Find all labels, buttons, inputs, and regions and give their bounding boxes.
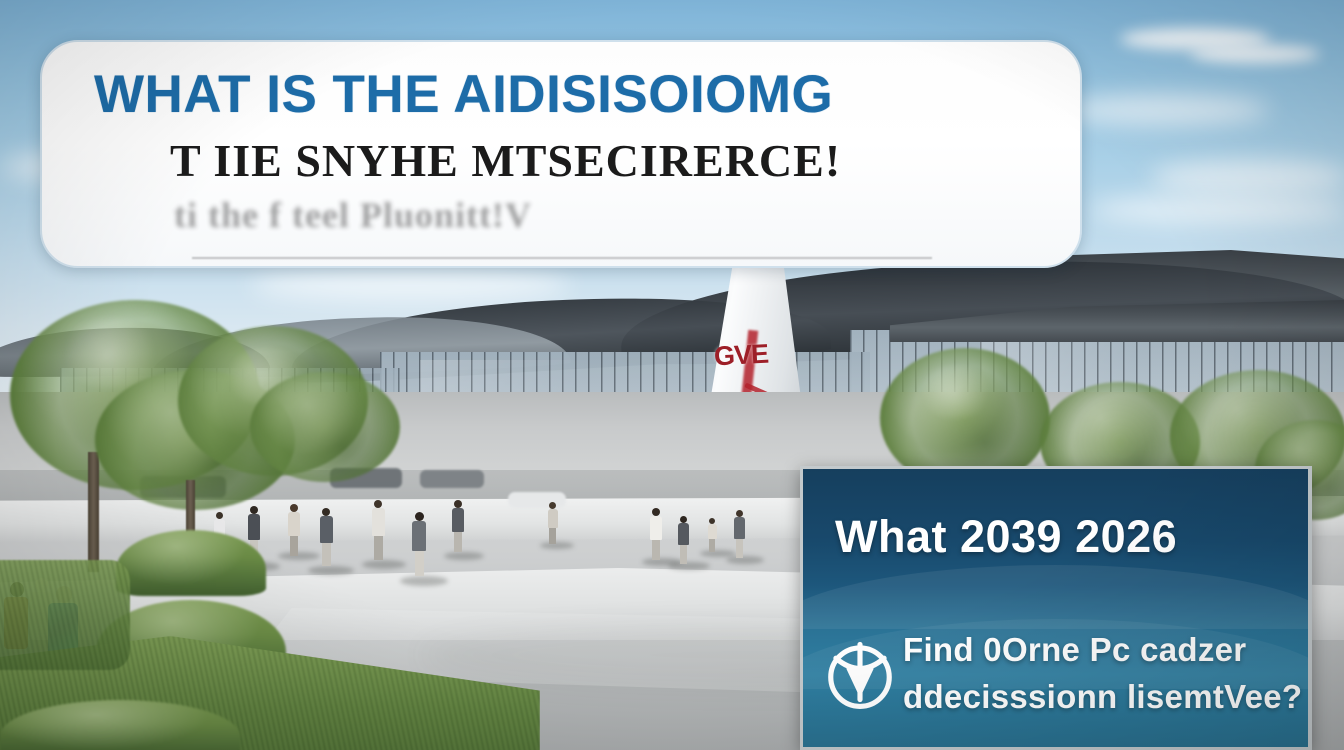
headline-underline xyxy=(192,257,932,259)
pedestrian xyxy=(320,508,333,566)
promo-title: What 2039 2026 xyxy=(835,511,1177,563)
pedestrian-legs xyxy=(652,540,660,560)
cloud xyxy=(1190,45,1320,63)
pedestrian-legs xyxy=(322,543,331,566)
person-shadow xyxy=(308,566,354,575)
promo-subtitle-line-2: ddecisssionn lisemtVee? xyxy=(903,674,1303,721)
pedestrian-torso xyxy=(678,523,689,545)
aircraft-tail-code: GVE xyxy=(713,339,769,373)
parked-vehicle xyxy=(420,470,484,488)
pedestrian-child xyxy=(708,518,717,552)
promo-subtitle: Find 0Orne Pc cadzer ddecisssionn lisemt… xyxy=(903,627,1303,721)
pedestrian-torso xyxy=(452,508,464,532)
promo-panel[interactable]: What 2039 2026 Find 0Orne Pc cadzer ddec… xyxy=(800,466,1312,750)
promo-subtitle-line-1: Find 0Orne Pc cadzer xyxy=(903,627,1303,674)
pedestrian xyxy=(288,504,300,556)
person-shadow xyxy=(444,552,484,560)
pedestrian-head xyxy=(680,516,687,523)
pedestrian-torso xyxy=(288,512,300,536)
pedestrian-legs xyxy=(736,539,743,558)
person-shadow xyxy=(362,560,406,569)
grass-planter-left xyxy=(0,560,130,670)
pedestrian-torso xyxy=(734,517,745,539)
person-shadow xyxy=(726,556,764,564)
screenshot-root: GVE xyxy=(0,0,1344,750)
pedestrian-head xyxy=(652,508,660,516)
pedestrian xyxy=(548,502,558,544)
pedestrian xyxy=(734,510,745,558)
person-shadow xyxy=(700,550,736,557)
pedestrian-torso xyxy=(248,514,260,540)
pedestrian-torso xyxy=(650,516,662,540)
pedestrian-head xyxy=(322,508,330,516)
tree-trunk xyxy=(88,452,99,572)
person-shadow xyxy=(400,576,448,586)
pedestrian-torso xyxy=(708,524,717,539)
pedestrian xyxy=(372,500,385,560)
tree-highlight xyxy=(915,366,995,418)
leaf-arrow-emblem-icon xyxy=(817,629,903,715)
cloud xyxy=(1060,95,1270,125)
pedestrian-legs xyxy=(454,532,462,552)
pedestrian xyxy=(412,512,426,576)
pedestrian-head xyxy=(374,500,382,508)
pedestrian-legs xyxy=(290,536,298,556)
headline-card[interactable]: WHAT IS THE AIDISISOIOMG T IIE SNYHE MTS… xyxy=(40,40,1082,268)
tree-canopy xyxy=(250,372,400,482)
cloud xyxy=(1150,160,1344,194)
person-shadow xyxy=(668,562,710,570)
pedestrian-torso xyxy=(548,509,558,528)
pedestrian-torso xyxy=(412,521,426,551)
pedestrian-head xyxy=(454,500,462,508)
pedestrian-head xyxy=(216,512,223,519)
cloud xyxy=(250,268,570,302)
pedestrian-head xyxy=(549,502,556,509)
pedestrian-legs xyxy=(415,551,424,576)
pedestrian-legs xyxy=(549,528,556,544)
pedestrian-legs xyxy=(680,545,687,564)
pedestrian xyxy=(452,500,464,552)
pedestrian-head xyxy=(290,504,298,512)
pedestrian-head xyxy=(250,506,258,514)
headline-secondary: T IIE SNYHE MTSECIRERCE! xyxy=(170,134,841,187)
cloud xyxy=(1090,196,1344,224)
headline-primary: WHAT IS THE AIDISISOIOMG xyxy=(94,64,833,125)
pedestrian-head xyxy=(736,510,743,517)
pedestrian-torso xyxy=(372,508,385,536)
pedestrian-legs xyxy=(374,536,383,560)
pedestrian-legs xyxy=(709,539,715,552)
pedestrian xyxy=(650,508,662,560)
pedestrian xyxy=(678,516,689,564)
pedestrian-head xyxy=(415,512,424,521)
headline-tertiary-smudged: ti the f teel Pluonitt!V xyxy=(174,194,532,236)
pedestrian-torso xyxy=(320,516,333,543)
